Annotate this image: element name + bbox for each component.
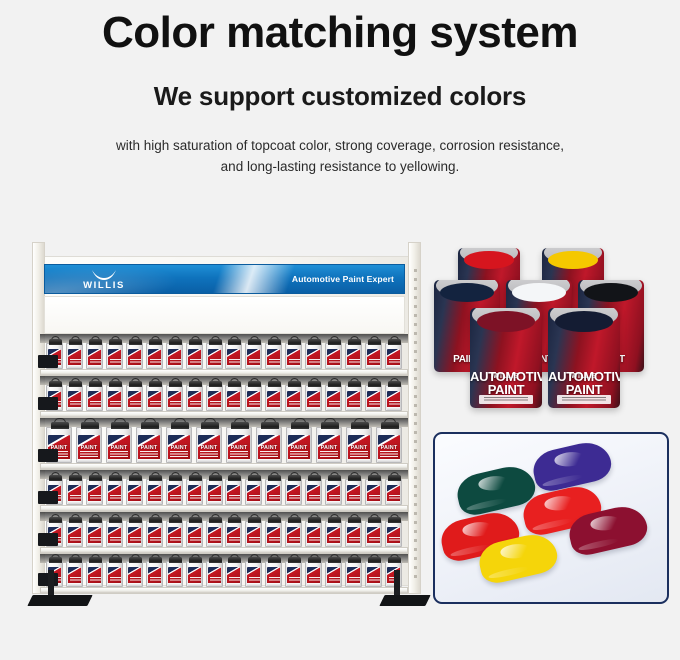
can-base [108, 583, 121, 586]
can-base [208, 583, 221, 586]
can-lid [49, 339, 62, 345]
description-text: with high saturation of topcoat color, s… [0, 136, 680, 178]
shelf-bracket [38, 397, 58, 410]
can-label-text: PAINT [138, 446, 160, 451]
can-lid [109, 475, 122, 481]
can-label [267, 485, 280, 502]
can-lid [69, 517, 82, 523]
can-base [287, 501, 300, 504]
can-lid [268, 475, 281, 481]
can-label [88, 349, 101, 366]
paint-can: PAINT [286, 427, 312, 463]
can-lid [109, 517, 122, 523]
can-lid [368, 475, 381, 481]
can-lid [51, 422, 69, 429]
can-lid [268, 517, 281, 523]
can-label [267, 391, 280, 408]
can-base [327, 583, 340, 586]
paint-can [166, 385, 183, 411]
can-base [188, 501, 201, 504]
can-label [347, 349, 360, 366]
can-lid [328, 557, 341, 563]
paint-surface [440, 283, 494, 302]
can-lid [228, 475, 241, 481]
rack-shelf: PAINTPAINTPAINTPAINTPAINTPAINTPAINTPAINT… [40, 418, 408, 470]
paint-can [206, 343, 223, 369]
paint-can [86, 343, 103, 369]
can-label-text: PAINT [198, 446, 220, 451]
can-lid [149, 381, 162, 387]
paint-can [225, 521, 242, 547]
can-base [318, 459, 340, 462]
can-lid [89, 381, 102, 387]
can-base [327, 407, 340, 410]
rack-shelf [40, 512, 408, 554]
paint-can [206, 385, 223, 411]
can-label [367, 391, 380, 408]
can-lid [209, 339, 222, 345]
can-lid [89, 339, 102, 345]
shelf-deck [40, 587, 408, 594]
can-base [168, 365, 181, 368]
can-lid [141, 422, 159, 429]
can-lid [81, 422, 99, 429]
can-label [287, 527, 300, 544]
can-base [247, 543, 260, 546]
can-lid [189, 381, 202, 387]
paint-can [365, 561, 382, 587]
willis-horns-logo-icon [91, 270, 117, 280]
shelf-bracket [38, 355, 58, 368]
paint-can: PAINT [106, 427, 132, 463]
paint-can: PAINT [196, 427, 222, 463]
paint-can [146, 521, 163, 547]
shelf-deck [40, 505, 408, 512]
can-lid [189, 517, 202, 523]
shelf-can-row [46, 343, 402, 369]
can-label [347, 567, 360, 584]
can-label [327, 391, 340, 408]
can-base [347, 583, 360, 586]
can-base [188, 407, 201, 410]
can-label [108, 349, 121, 366]
rack-slot-holes [414, 269, 417, 579]
can-label: PAINT [198, 435, 220, 460]
paint-surface [548, 251, 598, 269]
can-lid [348, 517, 361, 523]
can-lid [248, 381, 261, 387]
paint-can [265, 385, 282, 411]
can-base [188, 583, 201, 586]
can-label-text: PAINT [378, 446, 400, 451]
can-label [208, 349, 221, 366]
can-base [227, 407, 240, 410]
can-lid [169, 475, 182, 481]
can-base [188, 365, 201, 368]
shelf-can-row [46, 521, 402, 547]
can-label: PAINT [108, 435, 130, 460]
paint-can [265, 343, 282, 369]
can-lid [69, 339, 82, 345]
can-lid [129, 517, 142, 523]
can-label [387, 391, 400, 408]
can-label [247, 349, 260, 366]
banner-tagline: Automotive Paint Expert [292, 274, 394, 284]
can-label [327, 349, 340, 366]
can-base [288, 459, 310, 462]
can-base [267, 501, 280, 504]
can-lid [288, 517, 301, 523]
paint-can [106, 561, 123, 587]
paint-can [325, 521, 342, 547]
shelf-deck [40, 411, 408, 418]
can-base [108, 501, 121, 504]
can-lid [388, 339, 401, 345]
can-lid [228, 517, 241, 523]
can-lid [248, 339, 261, 345]
can-label [168, 567, 181, 584]
paint-can [186, 561, 203, 587]
can-lid [149, 475, 162, 481]
can-label [148, 567, 161, 584]
can-lid [328, 517, 341, 523]
paint-can [285, 479, 302, 505]
rack-shelf [40, 334, 408, 376]
can-lid [49, 557, 62, 563]
can-label [327, 527, 340, 544]
rack-leg-right [394, 570, 400, 598]
can-label [108, 391, 121, 408]
paint-can [126, 561, 143, 587]
can-label [367, 349, 380, 366]
can-base [128, 583, 141, 586]
paint-can [245, 561, 262, 587]
paint-can: PAINT [256, 427, 282, 463]
can-lid [348, 381, 361, 387]
can-base [148, 365, 161, 368]
can-base [307, 407, 320, 410]
can-base [287, 543, 300, 546]
can-label [227, 349, 240, 366]
can-label [287, 391, 300, 408]
can-base [287, 365, 300, 368]
can-lid [231, 422, 249, 429]
can-lid [288, 557, 301, 563]
can-label [168, 391, 181, 408]
can-label [148, 349, 161, 366]
can-lid [89, 475, 102, 481]
can-label [347, 485, 360, 502]
can-lid [328, 339, 341, 345]
paint-can [66, 385, 83, 411]
can-base [168, 543, 181, 546]
can-label [168, 349, 181, 366]
description-line-1: with high saturation of topcoat color, s… [116, 138, 564, 153]
can-label: PAINT [168, 435, 190, 460]
can-base [88, 583, 101, 586]
paint-can [106, 385, 123, 411]
can-lid [169, 557, 182, 563]
can-base [267, 365, 280, 368]
can-lid [69, 557, 82, 563]
can-label: PAINT [228, 435, 250, 460]
shelf-can-row [46, 385, 402, 411]
can-lid [209, 557, 222, 563]
can-base [208, 365, 221, 368]
can-lid [49, 517, 62, 523]
can-lid [248, 517, 261, 523]
can-lid [169, 381, 182, 387]
can-lid [268, 339, 281, 345]
can-lid [49, 475, 62, 481]
can-label: PAINT [378, 435, 400, 460]
can-label [327, 567, 340, 584]
can-label [148, 527, 161, 544]
can-label [327, 485, 340, 502]
can-label [68, 349, 81, 366]
can-lid [268, 557, 281, 563]
can-label [247, 567, 260, 584]
can-base [227, 543, 240, 546]
can-base [227, 501, 240, 504]
paint-can [106, 343, 123, 369]
can-label [108, 527, 121, 544]
can-lid [89, 517, 102, 523]
can-base [287, 583, 300, 586]
can-label [188, 485, 201, 502]
paint-can [225, 343, 242, 369]
can-label [208, 485, 221, 502]
can-base [148, 583, 161, 586]
paint-can [365, 385, 382, 411]
paint-can [126, 343, 143, 369]
can-base [287, 407, 300, 410]
can-base [208, 501, 221, 504]
can-base [267, 543, 280, 546]
can-label [68, 527, 81, 544]
can-lid [209, 381, 222, 387]
paint-can [66, 521, 83, 547]
can-label: PAINT [78, 435, 100, 460]
can-label [188, 527, 201, 544]
can-label [347, 527, 360, 544]
can-base [387, 365, 400, 368]
dark-navy-paint-can: WILLIS AUTOMOTIVEPAINT [548, 308, 620, 408]
can-base [148, 501, 161, 504]
can-lid [248, 557, 261, 563]
can-label [128, 567, 141, 584]
can-base [168, 501, 181, 504]
paint-can [166, 561, 183, 587]
can-label-text: PAINT [318, 446, 340, 451]
can-label [267, 567, 280, 584]
can-base [367, 543, 380, 546]
paint-can [86, 561, 103, 587]
can-lid [368, 557, 381, 563]
paint-can [66, 561, 83, 587]
description-line-2: and long-lasting resistance to yellowing… [221, 159, 460, 174]
can-lid [291, 422, 309, 429]
purple-car-swatch [530, 438, 615, 495]
can-base [307, 583, 320, 586]
can-base [108, 543, 121, 546]
paint-can [66, 479, 83, 505]
can-lid [89, 557, 102, 563]
paint-can [265, 479, 282, 505]
can-label: PAINT [258, 435, 280, 460]
can-base [108, 365, 121, 368]
shelf-can-row [46, 561, 402, 587]
paint-can: PAINT [76, 427, 102, 463]
can-lid [308, 517, 321, 523]
paint-can [345, 479, 362, 505]
can-spec-label [557, 395, 612, 404]
paint-display-rack: WILLIS Automotive Paint Expert PAINTPAIN… [22, 242, 422, 614]
can-lid [268, 381, 281, 387]
can-base [68, 543, 81, 546]
can-lid [69, 381, 82, 387]
shelf-can-row [46, 479, 402, 505]
can-label [208, 527, 221, 544]
can-base [227, 365, 240, 368]
can-base [148, 407, 161, 410]
paint-can: PAINT [346, 427, 372, 463]
can-lid [129, 339, 142, 345]
can-label: PAINT [288, 435, 310, 460]
paint-can [325, 343, 342, 369]
can-lid [111, 422, 129, 429]
can-lid [388, 475, 401, 481]
can-base [128, 501, 141, 504]
can-base [138, 459, 160, 462]
paint-can [245, 479, 262, 505]
paint-can [365, 479, 382, 505]
can-base [128, 407, 141, 410]
can-label [88, 485, 101, 502]
can-lid [49, 381, 62, 387]
paint-can [265, 521, 282, 547]
can-lid [308, 339, 321, 345]
can-base [78, 459, 100, 462]
can-lid [109, 381, 122, 387]
can-base [247, 501, 260, 504]
paint-can [186, 343, 203, 369]
can-label [208, 391, 221, 408]
can-base [247, 583, 260, 586]
paint-can [385, 479, 402, 505]
can-base [307, 365, 320, 368]
paint-can: PAINT [136, 427, 162, 463]
can-label [287, 567, 300, 584]
paint-can [245, 343, 262, 369]
can-label-text: PAINT [108, 446, 130, 451]
shelf-deck [40, 369, 408, 376]
can-label [367, 485, 380, 502]
can-base [327, 501, 340, 504]
paint-can [285, 385, 302, 411]
can-label [227, 527, 240, 544]
brand-logo: WILLIS [67, 268, 141, 293]
can-label [148, 391, 161, 408]
shelf-deck [40, 463, 408, 470]
paint-surface [555, 311, 613, 332]
can-lid [328, 475, 341, 481]
can-label [108, 567, 121, 584]
can-label [168, 485, 181, 502]
paint-can [345, 521, 362, 547]
paint-can: PAINT [376, 427, 402, 463]
can-label: PAINT [348, 435, 370, 460]
can-label [347, 391, 360, 408]
can-base [188, 543, 201, 546]
can-lid [368, 517, 381, 523]
can-lid [328, 381, 341, 387]
paint-can [325, 561, 342, 587]
can-label [168, 527, 181, 544]
paint-can [106, 479, 123, 505]
rack-header-banner: WILLIS Automotive Paint Expert [44, 264, 405, 294]
can-lid [189, 339, 202, 345]
paint-can [365, 521, 382, 547]
rack-top-empty-shelf [44, 296, 405, 334]
can-base [347, 407, 360, 410]
shelf-bracket [38, 533, 58, 546]
paint-surface [584, 283, 638, 302]
can-base [347, 501, 360, 504]
can-base [198, 459, 220, 462]
paint-can [385, 343, 402, 369]
can-label [148, 485, 161, 502]
can-base [88, 543, 101, 546]
can-spec-label [479, 395, 534, 404]
can-label [247, 391, 260, 408]
can-base [347, 365, 360, 368]
can-label: PAINT [138, 435, 160, 460]
paint-can [325, 385, 342, 411]
can-label [128, 391, 141, 408]
can-base [128, 543, 141, 546]
paint-can [285, 343, 302, 369]
paint-can [166, 343, 183, 369]
can-base [68, 365, 81, 368]
paint-can [225, 385, 242, 411]
rack-foot-left [27, 595, 92, 606]
can-base [247, 407, 260, 410]
can-base [168, 407, 181, 410]
paint-can [186, 479, 203, 505]
shelf-bracket [38, 491, 58, 504]
color-swatch-panel [433, 432, 669, 604]
paint-can [245, 521, 262, 547]
can-label [128, 485, 141, 502]
can-lid [321, 422, 339, 429]
can-lid [388, 517, 401, 523]
can-label: PAINT [318, 435, 340, 460]
can-lid [308, 381, 321, 387]
can-lid [209, 475, 222, 481]
can-base [348, 459, 370, 462]
can-label [227, 485, 240, 502]
rack-shelf [40, 470, 408, 512]
paint-can: PAINT [166, 427, 192, 463]
can-label [68, 567, 81, 584]
paint-can [146, 343, 163, 369]
can-lid [149, 339, 162, 345]
can-lid [69, 475, 82, 481]
paint-can [206, 561, 223, 587]
can-base [227, 583, 240, 586]
maroon-paint-can: WILLIS AUTOMOTIVEPAINT [470, 308, 542, 408]
